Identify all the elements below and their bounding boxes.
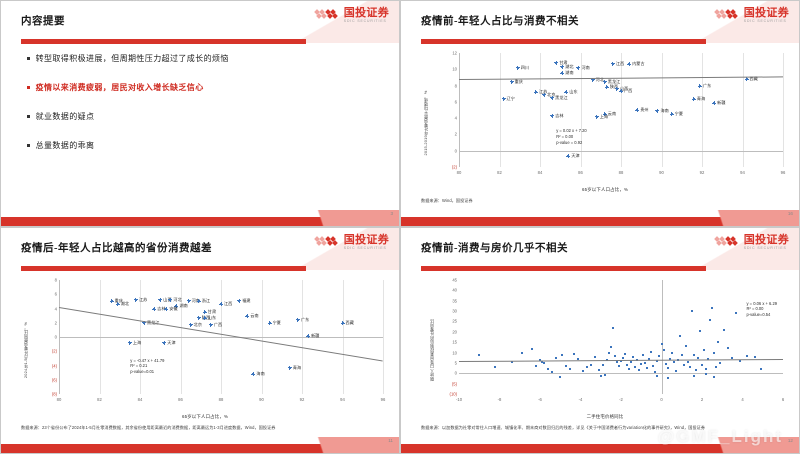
title-rule [21,266,306,271]
data-point [671,352,673,354]
list-item-label: 转型取得积极进展，但周期性压力超过了成长的烦恼 [36,53,229,64]
data-point [719,362,721,364]
x-axis-tick: 2 [701,397,703,402]
footer-wedge-decoration [651,210,800,226]
data-point [252,373,254,375]
data-point [628,368,630,370]
bullet-dot-icon [27,115,30,118]
list-item-label: 就业数据的疑点 [36,111,95,122]
x-axis-tick: 88 [219,397,224,402]
x-axis-title: 65岁以下人口占比，% [421,187,789,193]
x-axis-tick: 82 [97,397,102,402]
data-point [642,354,644,356]
page-number: 11 [388,438,393,443]
y-axis-tick: (8) [52,392,57,397]
data-point-label: 山东 [569,89,577,95]
data-point [535,91,537,93]
data-point [551,97,553,99]
data-point [543,362,545,364]
x-axis-tick: 86 [578,170,583,175]
data-point [630,361,632,363]
regression-pvalue: p-value=0.54 [747,312,778,318]
data-point-label: 广西 [624,88,632,94]
zero-baseline [459,373,783,374]
data-point [535,365,537,367]
y-axis-tick: 0 [455,371,457,376]
data-point-label: 贵州 [640,107,648,113]
data-point-label: 内蒙古 [632,61,645,67]
data-point [754,356,756,358]
data-point [616,361,618,363]
source-note: 数据来源：Wind，国投证券 [421,198,786,204]
page-title: 疫情后-年轻人占比越高的省份消费越差 [21,240,212,255]
slide-footer [401,437,800,453]
data-point-label: 福建 [242,298,250,304]
data-point [671,113,673,115]
regression-pvalue: p-value = 0.92 [556,140,587,146]
sdic-diamond-icon [315,236,341,249]
data-point [699,85,701,87]
data-point [735,312,737,314]
data-point [511,81,513,83]
page-number: 12 [788,438,793,443]
data-point [565,365,567,367]
trend-line [459,359,783,362]
data-point [521,352,523,354]
source-note: 数据来源：以加数据为社零对常住人口增速、城镇化率、期末商对数回归后的残差，详见《… [421,425,786,431]
bullet-dot-icon [27,86,30,89]
data-point [687,361,689,363]
data-point-label: 安徽 [169,306,177,312]
data-point [634,366,636,368]
data-point-label: 河北 [173,297,181,303]
data-point [622,357,624,359]
data-point-label: 湖北 [121,301,129,307]
data-point [624,353,626,355]
data-point [531,348,533,350]
data-point [636,109,638,111]
data-point [675,370,677,372]
y-axis-tick: 35 [452,298,457,303]
data-point-label: 黑龙江 [555,95,568,101]
data-point [577,67,579,69]
y-axis-tick: 5 [455,360,457,365]
data-point [551,371,553,373]
data-point [478,354,480,356]
data-point [543,94,545,96]
agenda-list: 转型取得积极进展，但周期性压力超过了成长的烦恼 疫情以来消费疲弱，居民对收入增长… [27,53,367,169]
data-point [129,342,131,344]
data-point [307,335,309,337]
data-point [220,303,222,305]
data-point [679,335,681,337]
data-point [608,352,610,354]
source-note: 数据来源：23个省份公布了2024年1-5月社零消费数据，其余省份使用距离最近的… [21,425,386,431]
y-axis-line [662,280,663,394]
data-point [685,345,687,347]
data-point [711,307,713,309]
plot-area: 80828486889092949686420(2)(4)(6)(8)重庆湖北江… [59,280,383,394]
data-point [705,368,707,370]
data-point-label: 广西 [214,322,222,328]
data-point [561,354,563,356]
data-point [667,367,669,369]
data-point-label: 辽宁 [507,96,515,102]
list-item-label: 总量数据的乖离 [36,140,95,151]
data-point [699,330,701,332]
y-axis-title: 2015-2019年社零消费平均增速，% [423,90,429,155]
data-point [169,299,171,301]
slide-agenda[interactable]: 内容提要 国投证券 SDIC SECURITIES 转型取得积极进展，但周期性压… [0,0,400,227]
y-axis-tick: 2 [455,132,457,137]
data-point [188,300,190,302]
x-axis-tick: -8 [498,397,502,402]
y-axis-tick: (2) [52,349,57,354]
data-point [715,366,717,368]
data-point [573,353,575,355]
x-axis-tick: 90 [659,170,664,175]
x-axis-tick: 84 [538,170,543,175]
logo-text-cn: 国投证券 [744,235,789,246]
data-point [204,311,206,313]
data-point [667,377,669,379]
data-point [238,300,240,302]
page-title: 疫情前-年轻人占比与消费不相关 [421,13,579,28]
data-point [612,327,614,329]
logo-text-en: SDIC SECURITIES [344,247,389,250]
y-axis-tick: 4 [55,306,57,311]
sdic-diamond-icon [715,9,741,22]
y-axis-tick: (4) [52,363,57,368]
y-axis-tick: 8 [455,83,457,88]
data-point-label: 浙江 [202,298,210,304]
slide-pre-covid-house[interactable]: 疫情前-消费与房价几乎不相关 国投证券 SDIC SECURITIES 剔除人口… [400,227,800,454]
zero-baseline [459,151,783,152]
y-axis-tick: (10) [450,392,457,397]
logo-text-cn: 国投证券 [744,8,789,19]
slide-footer [1,210,400,226]
data-point [604,374,606,376]
data-point [693,375,695,377]
list-item[interactable]: 疫情以来消费疲弱，居民对收入增长缺乏信心 [27,82,367,93]
y-axis-tick: 30 [452,309,457,314]
data-point [606,86,608,88]
data-point [717,341,719,343]
data-point-label: 天津 [167,340,175,346]
data-point [695,369,697,371]
data-point-label: 新疆 [717,100,725,106]
y-axis-tick: 12 [452,51,457,56]
x-axis-tick: -10 [456,397,462,402]
slide-post-covid-youth[interactable]: 疫情后-年轻人占比越高的省份消费越差 国投证券 SDIC SECURITIES … [0,227,400,454]
data-point [656,110,658,112]
data-point-label: 广东 [301,317,309,323]
data-point [210,324,212,326]
y-axis-tick: (6) [52,377,57,382]
regression-annotation: y = 0.02 x + 7.20R² = 0.00p-value = 0.92 [556,128,587,146]
data-point [567,155,569,157]
x-axis-title: 二手住宅价格同比 [421,414,789,420]
data-point [517,67,519,69]
data-point [135,299,137,301]
data-point [693,354,695,356]
page-number: 16 [788,211,793,216]
data-point [594,356,596,358]
page-title: 疫情前-消费与房价几乎不相关 [421,240,568,255]
data-point [494,366,496,368]
y-axis-tick: 2 [55,320,57,325]
zero-baseline [59,337,383,338]
bullet-dot-icon [27,57,30,60]
brand-logo: 国投证券 SDIC SECURITIES [715,235,789,250]
sdic-diamond-icon [315,9,341,22]
logo-text-cn: 国投证券 [344,8,389,19]
data-point [582,370,584,372]
data-point [673,361,675,363]
grid-line [383,280,384,394]
data-point-label: 山东 [208,315,216,321]
data-point [693,98,695,100]
data-point [547,368,549,370]
y-axis-tick: 8 [55,278,57,283]
data-point-label: 上海 [600,114,608,120]
data-point [555,62,557,64]
x-axis-tick: 96 [781,170,786,175]
data-point [204,317,206,319]
data-point-label: 江西 [616,61,624,67]
x-axis-tick: -6 [538,397,542,402]
x-axis-tick: 0 [660,397,662,402]
sdic-diamond-icon [715,236,741,249]
data-point [746,78,748,80]
data-point [628,63,630,65]
data-point [614,355,616,357]
data-point [713,102,715,104]
chart-pre-covid-house: 剔除人口等因素控制后的社零同比 -10-8-6-4-20246454035302… [421,276,789,424]
data-point [650,351,652,353]
data-point [760,368,762,370]
data-point [111,300,113,302]
data-point [654,371,656,373]
chart-post-covid-youth: 2024年1-5月社零消费同比，% 8082848688909294968642… [21,276,389,424]
data-point-label: 天津 [571,153,579,159]
brand-logo: 国投证券 SDIC SECURITIES [715,8,789,23]
y-axis-line [459,53,460,167]
data-point [565,91,567,93]
list-item[interactable]: 转型取得积极进展，但周期性压力超过了成长的烦恼 [27,53,367,64]
data-point [600,375,602,377]
data-point-label: 四川 [521,65,529,71]
data-point [503,98,505,100]
data-point [610,346,612,348]
data-point-label: 吉林 [555,113,563,119]
y-axis-tick: 45 [452,278,457,283]
title-rule [421,39,706,44]
y-axis-tick: 0 [455,148,457,153]
regression-annotation: y = -0.47 x + 41.79R² = 0.21p-value=0.01 [130,358,164,376]
data-point [269,322,271,324]
list-item[interactable]: 就业数据的疑点 [27,111,367,122]
data-point [561,72,563,74]
data-point-label: 广东 [703,83,711,89]
data-point [713,376,715,378]
bullet-dot-icon [27,144,30,147]
data-point [592,79,594,81]
data-point [198,317,200,319]
data-point-label: 河南 [581,65,589,71]
data-point [190,324,192,326]
y-axis-tick: 40 [452,288,457,293]
data-point [289,367,291,369]
x-axis-tick: 80 [457,170,462,175]
logo-text-cn: 国投证券 [344,235,389,246]
data-point [153,308,155,310]
y-axis-line [59,280,60,394]
data-point [616,88,618,90]
data-point [663,349,665,351]
y-axis-tick: 20 [452,329,457,334]
regression-annotation: y = 0.06 x + 6.29R² = 0.00p-value=0.54 [747,301,778,319]
data-point [731,357,733,359]
data-point [165,308,167,310]
data-point [590,364,592,366]
x-axis-tick: 80 [57,397,62,402]
y-axis-title: 2024年1-5月社零消费同比，% [23,322,29,378]
x-axis-tick: 96 [381,397,386,402]
x-axis-tick: 90 [259,397,264,402]
footer-wedge-decoration [251,437,400,453]
data-point [555,357,557,359]
x-axis-tick: 82 [497,170,502,175]
data-point [746,355,748,357]
data-point [658,355,660,357]
x-axis-tick: 94 [340,397,345,402]
data-point [683,364,685,366]
data-point [246,315,248,317]
data-point [297,319,299,321]
data-point-label: 云南 [250,313,258,319]
data-point [701,364,703,366]
data-point-label: 湖南 [565,70,573,76]
footer-wedge-decoration [251,210,400,226]
regression-pvalue: p-value=0.01 [130,369,164,375]
y-axis-tick: 10 [452,350,457,355]
x-axis-tick: 92 [700,170,705,175]
slide-deck: 内容提要 国投证券 SDIC SECURITIES 转型取得积极进展，但周期性压… [0,0,800,454]
plot-area: -10-8-6-4-20246454035302520151050(5)(10)… [459,280,783,394]
list-item[interactable]: 总量数据的乖离 [27,140,367,151]
data-point [618,365,620,367]
data-point-label: 湖北 [565,64,573,70]
data-point [620,90,622,92]
y-axis-tick: 25 [452,319,457,324]
data-point [691,310,693,312]
data-point [640,363,642,365]
data-point [705,373,707,375]
x-axis-tick: 4 [741,397,743,402]
data-point [604,81,606,83]
data-point [646,367,648,369]
data-point [569,368,571,370]
data-point-label: 青海 [697,96,705,102]
data-point [709,319,711,321]
x-axis-title: 65岁以下人口占比，% [21,414,389,420]
y-axis-tick: (5) [452,381,457,386]
brand-logo: 国投证券 SDIC SECURITIES [315,8,389,23]
y-axis-tick: 6 [55,292,57,297]
data-point [689,366,691,368]
data-point-label: 北京 [194,322,202,328]
data-point [703,349,705,351]
data-point [638,369,640,371]
y-axis-tick: 15 [452,340,457,345]
y-axis-tick: 4 [455,116,457,121]
data-point [602,364,604,366]
slide-pre-covid-youth[interactable]: 疫情前-年轻人占比与消费不相关 国投证券 SDIC SECURITIES 201… [400,0,800,227]
data-point [665,363,667,365]
data-point-label: 青海 [293,365,301,371]
data-point [661,343,663,345]
x-axis-tick: -2 [619,397,623,402]
title-rule [421,266,706,271]
data-point [632,356,634,358]
list-item-label: 疫情以来消费疲弱，居民对收入增长缺乏信心 [36,82,204,93]
data-point-label: 云南 [608,111,616,117]
data-point-label: 上海 [133,340,141,346]
data-point [159,299,161,301]
data-point [713,352,715,354]
x-axis-tick: -4 [579,397,583,402]
y-axis-tick: 6 [455,99,457,104]
data-point-label: 宁夏 [273,320,281,326]
slide-footer [1,437,400,453]
data-point-label: 江西 [224,301,232,307]
data-point [596,116,598,118]
x-axis-tick: 84 [138,397,143,402]
x-axis-tick: 88 [619,170,624,175]
data-point [117,303,119,305]
data-point [163,342,165,344]
data-point [598,369,600,371]
data-point [626,364,628,366]
grid-line [783,53,784,167]
data-point-label: 新疆 [311,333,319,339]
logo-text-en: SDIC SECURITIES [744,20,789,23]
data-point [656,375,658,377]
x-axis-tick: 86 [178,397,183,402]
data-point [652,365,654,367]
data-point-label: 西藏 [346,320,354,326]
slide-footer [401,210,800,226]
data-point [644,362,646,364]
data-point [342,322,344,324]
data-point [551,115,553,117]
logo-text-en: SDIC SECURITIES [744,247,789,250]
data-point-label: 海南 [660,108,668,114]
data-point [559,376,561,378]
data-point [586,366,588,368]
data-point-label: 宁夏 [675,111,683,117]
logo-text-en: SDIC SECURITIES [344,20,389,23]
page-number: 3 [390,211,393,216]
x-axis-tick: 6 [782,397,784,402]
y-axis-tick: 0 [55,335,57,340]
data-point [561,66,563,68]
y-axis-tick: (2) [452,165,457,170]
y-axis-tick: 10 [452,67,457,72]
x-axis-tick: 94 [740,170,745,175]
data-point-label: 湖南 [179,303,187,309]
